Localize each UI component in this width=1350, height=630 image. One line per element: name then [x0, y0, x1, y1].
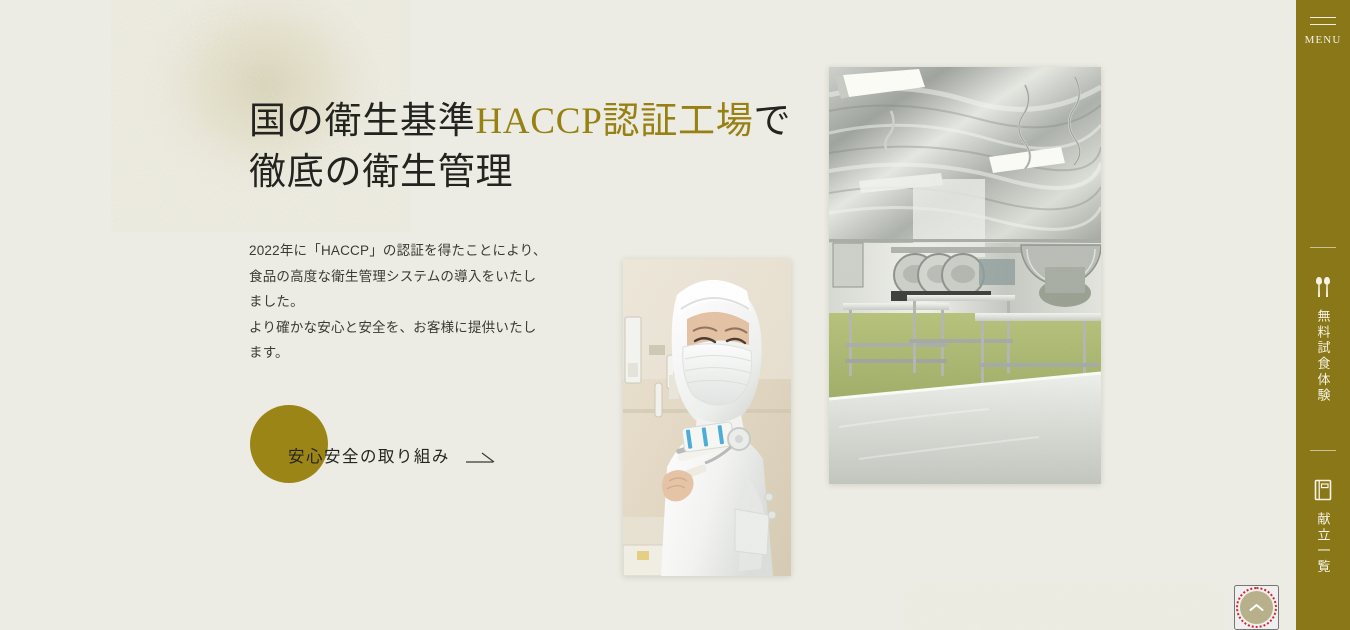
menu-toggle-button[interactable]: MENU: [1296, 17, 1350, 46]
sidebar-item-label: 献立一覧: [1314, 512, 1333, 575]
arrow-right-icon: [466, 451, 496, 465]
hygiene-staff-photo: [623, 259, 791, 576]
page-title-part1: 国の衛生基準: [249, 101, 475, 142]
scroll-to-top-button[interactable]: [1234, 585, 1279, 630]
menu-label: MENU: [1305, 34, 1342, 46]
factory-kitchen-photo: [829, 67, 1101, 484]
page-title: 国の衛生基準HACCP認証工場で 徹底の衛生管理: [249, 96, 809, 198]
cta-label: 安心安全の取り組み: [288, 443, 450, 467]
safety-initiatives-button[interactable]: 安心安全の取り組み: [250, 405, 495, 500]
sidebar-item-menu-list[interactable]: 献立一覧: [1313, 478, 1333, 575]
rail-divider: [1310, 450, 1336, 451]
hero-section: 国の衛生基準HACCP認証工場で 徹底の衛生管理 2022年に「HACCP」の認…: [0, 0, 1296, 630]
chevron-up-icon: [1249, 603, 1264, 612]
rail-divider: [1310, 247, 1336, 248]
scroll-top-disc: [1240, 591, 1273, 624]
sidebar-item-label: 無料試食体験: [1314, 309, 1333, 404]
hero-body-text: 2022年に「HACCP」の認証を得たことにより、 食品の高度な衛生管理システム…: [249, 238, 549, 366]
book-icon: [1313, 478, 1333, 502]
hamburger-icon: [1310, 17, 1336, 25]
cutlery-icon: [1313, 275, 1333, 299]
side-navigation-rail: MENU 無料試食体験 献立一覧: [1296, 0, 1350, 630]
sidebar-item-free-tasting[interactable]: 無料試食体験: [1313, 275, 1333, 404]
page-title-highlight: HACCP認証工場: [475, 101, 753, 142]
